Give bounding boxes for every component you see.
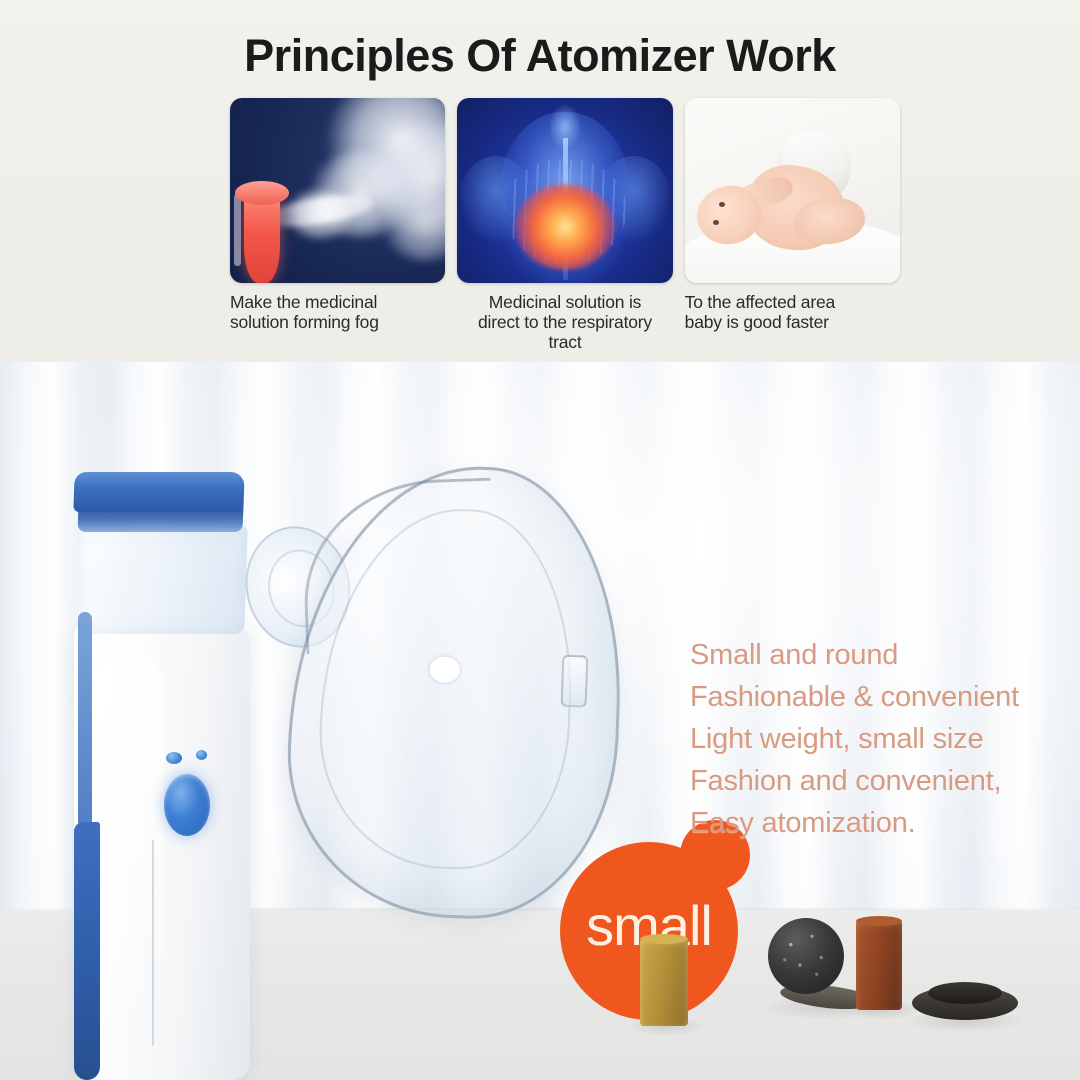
step-item-2: Medicinal solution is direct to the resp… [457, 98, 672, 348]
nebulizer-device [60, 472, 320, 1080]
power-button[interactable] [164, 774, 210, 836]
nozzle-stem [234, 194, 241, 266]
step-caption-2: Medicinal solution is direct to the resp… [457, 292, 672, 352]
step-caption-line: Medicinal solution is [457, 292, 672, 312]
nebulizer-nozzle-icon [244, 191, 280, 283]
feature-item: Fashionable & convenient [690, 676, 1060, 718]
indicator-light-icon [196, 750, 207, 760]
indicator-light-icon [166, 752, 182, 764]
step-caption-line: Make the medicinal [230, 292, 445, 312]
step-caption-line: To the affected area [685, 292, 900, 312]
device-side-stripe [74, 822, 100, 1080]
device-medicine-tank [76, 526, 248, 634]
rust-candle [856, 920, 902, 1010]
baby-eye [719, 202, 725, 207]
gold-candle [640, 938, 688, 1026]
dark-ring-inner [928, 982, 1002, 1004]
feature-item: Fashion and convenient, [690, 760, 1060, 802]
feature-list: Small and round Fashionable & convenient… [690, 634, 1060, 844]
step-caption-line: solution forming fog [230, 312, 445, 332]
device-side-stripe-upper [78, 612, 92, 828]
step-caption-3: To the affected area baby is good faster [685, 292, 900, 332]
step-caption-line: direct to the respiratory [457, 312, 672, 332]
step-caption-line: tract [457, 332, 672, 352]
baby-photo [685, 98, 900, 283]
feature-item: Easy atomization. [690, 802, 1060, 844]
step-item-3: To the affected area baby is good faster [685, 98, 900, 348]
page-title: Principles Of Atomizer Work [0, 30, 1080, 82]
step-caption-1: Make the medicinal solution forming fog [230, 292, 445, 332]
device-seam-line [152, 840, 154, 1046]
baby-eye [713, 220, 719, 225]
mask-side-clip [561, 655, 589, 708]
nebulizer-mist-photo [230, 98, 445, 283]
human-respiratory-scan-photo [457, 98, 672, 283]
feature-item: Light weight, small size [690, 718, 1060, 760]
device-body [74, 622, 250, 1080]
step-item-1: Make the medicinal solution forming fog [230, 98, 445, 348]
dark-speckled-sphere [768, 918, 844, 994]
feature-item: Small and round [690, 634, 1060, 676]
product-photo-area: small Small and round Fashionable & conv… [0, 362, 1080, 1080]
device-top-cap [73, 472, 244, 512]
lung-glow-highlight [515, 184, 615, 270]
steps-row: Make the medicinal solution forming fog … [230, 98, 900, 348]
decor-objects [620, 890, 1080, 1080]
product-infographic: Principles Of Atomizer Work Make the med… [0, 0, 1080, 1080]
step-caption-line: baby is good faster [685, 312, 900, 332]
header-panel: Principles Of Atomizer Work Make the med… [0, 0, 1080, 362]
